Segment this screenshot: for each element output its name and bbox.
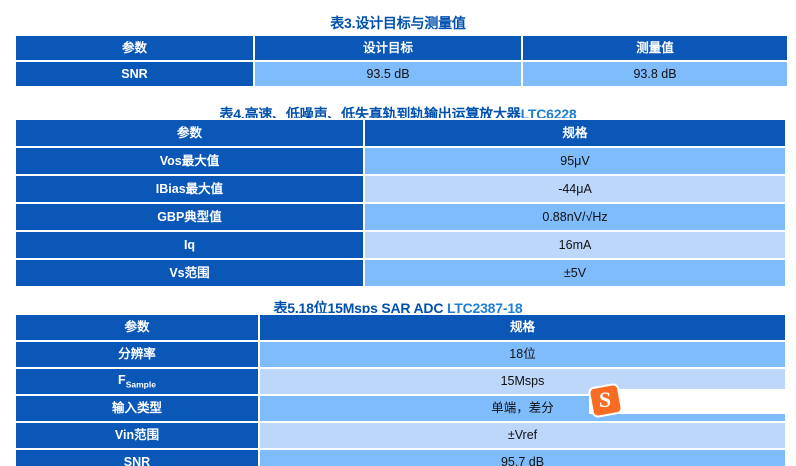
table5-row3-spec: ±Vref	[260, 423, 785, 448]
table4-row4-param: Vs范围	[16, 260, 363, 286]
table3-caption: 表3.设计目标与测量值	[0, 13, 796, 33]
table4-row2-spec: 0.88nV/√Hz	[365, 204, 785, 230]
table-row: SNR 93.5 dB 93.8 dB	[16, 62, 787, 86]
table5-row3-param: Vin范围	[16, 423, 258, 448]
table5-row4-spec: 95.7 dB	[260, 450, 785, 466]
table4-row4-spec: ±5V	[365, 260, 785, 286]
table4-row3-param: Iq	[16, 232, 363, 258]
table-row: Vin范围 ±Vref	[16, 423, 785, 448]
table5-row2-param: 输入类型	[16, 396, 258, 421]
table4-row0-param: Vos最大值	[16, 148, 363, 174]
table4: 参数 规格 Vos最大值 95μV IBias最大值 -44μA GBP典型值 …	[14, 118, 787, 288]
table-row: Vos最大值 95μV	[16, 148, 785, 174]
table3-col-measured: 测量值	[523, 36, 787, 60]
table4-col-param: 参数	[16, 120, 363, 146]
table5-row4-param: SNR	[16, 450, 258, 466]
table4-row3-spec: 16mA	[365, 232, 785, 258]
table3-row0-target: 93.5 dB	[255, 62, 521, 86]
table4-row2-param: GBP典型值	[16, 204, 363, 230]
table5-row0-param: 分辨率	[16, 342, 258, 367]
table5-row1-param-base: F	[118, 373, 126, 387]
table4-header-row: 参数 规格	[16, 120, 785, 146]
table4-row1-param: IBias最大值	[16, 176, 363, 202]
table4-row1-spec: -44μA	[365, 176, 785, 202]
table5-header-row: 参数 规格	[16, 315, 785, 340]
table3-header-row: 参数 设计目标 测量值	[16, 36, 787, 60]
table3-col-param: 参数	[16, 36, 253, 60]
table5-col-spec: 规格	[260, 315, 785, 340]
table4-col-spec: 规格	[365, 120, 785, 146]
table5-row1-param-subscript: Sample	[126, 380, 156, 390]
table-row: Vs范围 ±5V	[16, 260, 785, 286]
table5-row0-spec: 18位	[260, 342, 785, 367]
table3-row0-measured: 93.8 dB	[523, 62, 787, 86]
table-row: GBP典型值 0.88nV/√Hz	[16, 204, 785, 230]
table5-col-param: 参数	[16, 315, 258, 340]
table3-row0-param: SNR	[16, 62, 253, 86]
table3-caption-text: 表3.设计目标与测量值	[330, 15, 465, 31]
table-row: Iq 16mA	[16, 232, 785, 258]
table-row: IBias最大值 -44μA	[16, 176, 785, 202]
table4-row0-spec: 95μV	[365, 148, 785, 174]
table3-col-target: 设计目标	[255, 36, 521, 60]
sogou-logo-icon[interactable]: S	[588, 383, 624, 419]
table5-row1-param: FSample	[16, 369, 258, 394]
table-row: SNR 95.7 dB	[16, 450, 785, 466]
sogou-logo-letter: S	[599, 389, 611, 411]
table-row: 分辨率 18位	[16, 342, 785, 367]
table3: 参数 设计目标 测量值 SNR 93.5 dB 93.8 dB	[14, 34, 789, 88]
page-root: 表3.设计目标与测量值 参数 设计目标 测量值 SNR 93.5 dB 93.8…	[0, 0, 796, 466]
